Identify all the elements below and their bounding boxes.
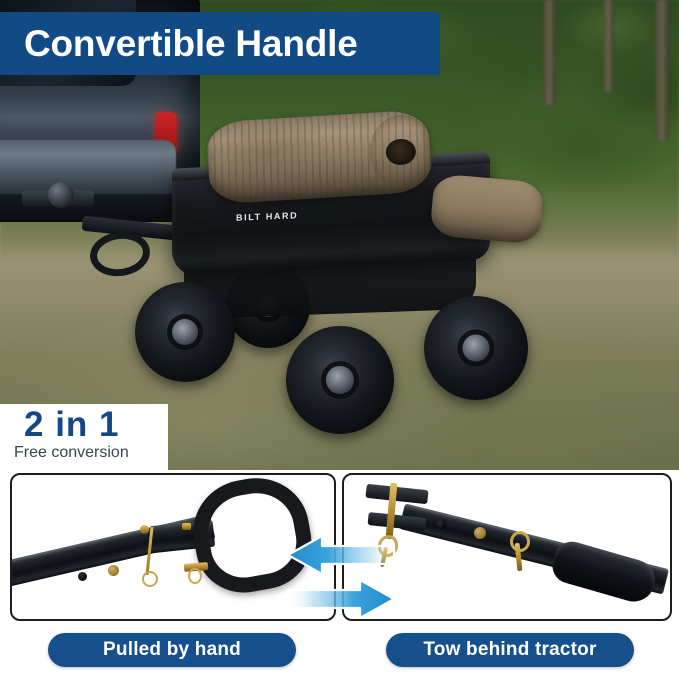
pin-clip-ring xyxy=(142,571,158,587)
pill-label: Pulled by hand xyxy=(103,639,241,661)
vehicle-bumper xyxy=(0,140,176,194)
loop-grip-icon xyxy=(185,473,319,600)
small-bolt xyxy=(182,523,191,530)
cart-wheel xyxy=(424,296,528,400)
clevis-pin-clip xyxy=(375,532,401,559)
tree-trunk xyxy=(603,0,614,92)
pin-ring xyxy=(140,525,149,534)
label-pulled-by-hand[interactable]: Pulled by hand xyxy=(48,633,296,667)
tree-trunk xyxy=(655,0,669,140)
label-tow-behind-tractor[interactable]: Tow behind tractor xyxy=(386,633,634,667)
tree-trunk xyxy=(543,0,556,105)
page-title: Convertible Handle xyxy=(24,23,358,65)
folded-grip-icon xyxy=(548,537,660,606)
tow-ball-icon xyxy=(48,182,74,208)
panel-pulled-by-hand xyxy=(10,473,336,621)
bar-hole xyxy=(436,519,446,529)
hex-bolt-icon xyxy=(108,565,119,576)
log-load-main xyxy=(206,109,433,204)
product-image-canvas: BILT HARD Convertible Handle 2 in 1 Free… xyxy=(0,0,679,673)
cart-wheel xyxy=(135,282,235,382)
two-in-one-badge: 2 in 1 Free conversion xyxy=(0,404,168,472)
log-load-secondary xyxy=(430,173,545,244)
bar-hole xyxy=(78,572,87,581)
panel-tow-behind-tractor xyxy=(342,473,672,621)
badge-subtitle: Free conversion xyxy=(14,444,168,462)
pin-retainer-ring xyxy=(188,568,202,584)
title-banner: Convertible Handle xyxy=(0,12,440,75)
pill-label: Tow behind tractor xyxy=(423,639,596,661)
hex-bolt-icon xyxy=(474,527,486,539)
cart-wheel xyxy=(286,326,394,434)
badge-title: 2 in 1 xyxy=(24,406,168,444)
cart-brand-label: BILT HARD xyxy=(236,210,298,222)
